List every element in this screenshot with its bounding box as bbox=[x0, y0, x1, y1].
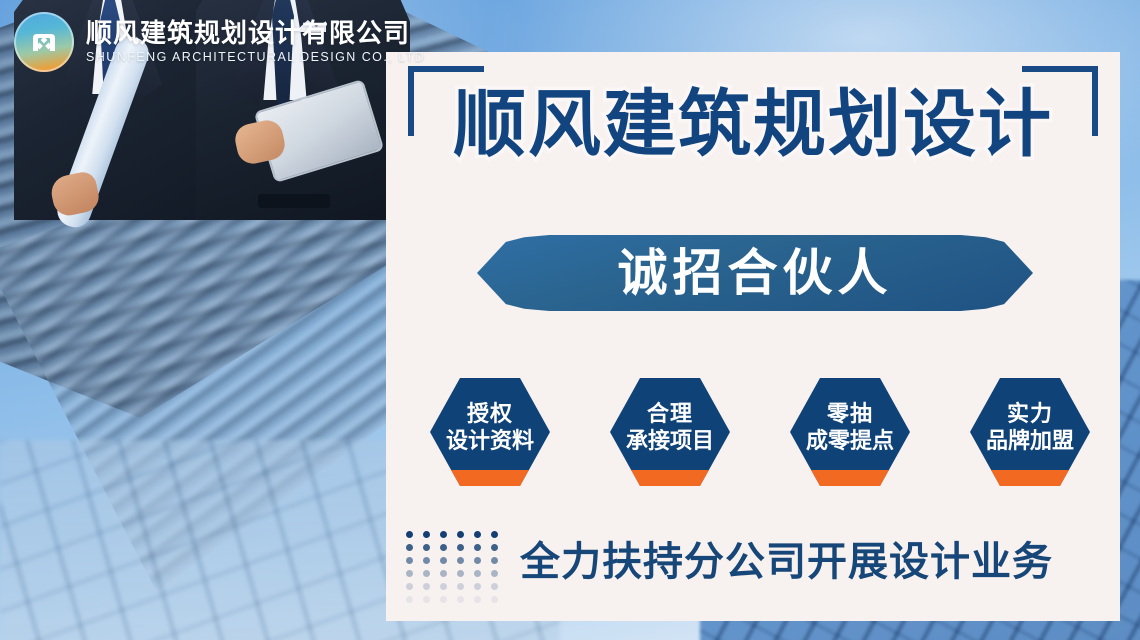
dot-grid-dot bbox=[423, 557, 430, 564]
feature-badge-3[interactable]: 零抽 成零提点 bbox=[790, 378, 910, 486]
dot-grid-dot bbox=[491, 596, 498, 603]
dot-grid-dot bbox=[423, 596, 430, 603]
dot-grid-dot bbox=[406, 596, 413, 603]
dot-grid-dot bbox=[406, 557, 413, 564]
brand-text-block: 顺风建筑规划设计有限公司 SHUNFENG ARCHITECTURAL DESI… bbox=[86, 19, 425, 66]
feature-badge-4[interactable]: 实力 品牌加盟 bbox=[970, 378, 1090, 486]
dot-grid-dot bbox=[423, 531, 430, 538]
dot-grid-dot bbox=[440, 531, 447, 538]
dot-grid-dot bbox=[474, 544, 481, 551]
feature-badge-2[interactable]: 合理 承接项目 bbox=[610, 378, 730, 486]
ribbon-banner-label: 诚招合伙人 bbox=[618, 248, 893, 298]
person-right-belt bbox=[258, 194, 330, 208]
dot-grid-dot bbox=[474, 583, 481, 590]
dot-grid-dot bbox=[440, 544, 447, 551]
company-logo-icon bbox=[14, 12, 74, 72]
dot-grid-dot bbox=[457, 570, 464, 577]
dot-grid-dot bbox=[440, 570, 447, 577]
dot-grid-dot bbox=[491, 583, 498, 590]
dot-grid-dot bbox=[457, 596, 464, 603]
dot-grid-dot bbox=[406, 570, 413, 577]
brand-header: 顺风建筑规划设计有限公司 SHUNFENG ARCHITECTURAL DESI… bbox=[14, 12, 425, 72]
dot-grid-dot bbox=[474, 531, 481, 538]
dot-grid-dot bbox=[491, 544, 498, 551]
dot-grid-dot bbox=[474, 596, 481, 603]
feature-badge-1-line2: 设计资料 bbox=[446, 429, 534, 454]
feature-badge-4-line1: 实力 bbox=[986, 402, 1074, 427]
dot-grid-dot bbox=[440, 596, 447, 603]
dot-grid-dot bbox=[491, 570, 498, 577]
dot-grid-dot bbox=[474, 557, 481, 564]
dot-grid-dot bbox=[457, 544, 464, 551]
feature-badge-2-line1: 合理 bbox=[626, 402, 714, 427]
poster-canvas: 顺风建筑规划设计 诚招合伙人 授权 设计资料 合理 承接项目 零抽 成零提点 实… bbox=[0, 0, 1140, 640]
dot-grid-dot bbox=[423, 544, 430, 551]
feature-badge-3-line2: 成零提点 bbox=[806, 429, 894, 454]
feature-badge-2-line2: 承接项目 bbox=[626, 429, 714, 454]
dot-grid-dot bbox=[457, 583, 464, 590]
dot-grid-dot bbox=[423, 583, 430, 590]
dot-grid-dot bbox=[423, 570, 430, 577]
dot-grid-dot bbox=[474, 570, 481, 577]
background-people-group bbox=[0, 220, 440, 640]
feature-badge-1-line1: 授权 bbox=[446, 402, 534, 427]
ribbon-banner: 诚招合伙人 bbox=[477, 235, 1033, 311]
dot-grid-dot bbox=[440, 583, 447, 590]
decorative-dot-grid bbox=[406, 531, 508, 609]
dot-grid-dot bbox=[406, 583, 413, 590]
dot-grid-dot bbox=[406, 544, 413, 551]
feature-badge-row: 授权 设计资料 合理 承接项目 零抽 成零提点 实力 品牌加盟 bbox=[430, 378, 1090, 488]
feature-badge-1[interactable]: 授权 设计资料 bbox=[430, 378, 550, 486]
feature-badge-4-line2: 品牌加盟 bbox=[986, 429, 1074, 454]
dot-grid-dot bbox=[440, 557, 447, 564]
main-title: 顺风建筑规划设计 bbox=[386, 88, 1120, 161]
brand-name-cn: 顺风建筑规划设计有限公司 bbox=[86, 19, 425, 48]
dot-grid-dot bbox=[457, 557, 464, 564]
dot-grid-dot bbox=[491, 531, 498, 538]
dot-grid-dot bbox=[457, 531, 464, 538]
brand-name-en: SHUNFENG ARCHITECTURAL DESIGN CO., LTD bbox=[86, 49, 425, 65]
feature-badge-3-line1: 零抽 bbox=[806, 402, 894, 427]
dot-grid-dot bbox=[491, 557, 498, 564]
tagline: 全力扶持分公司开展设计业务 bbox=[520, 542, 1053, 582]
dot-grid-dot bbox=[406, 531, 413, 538]
